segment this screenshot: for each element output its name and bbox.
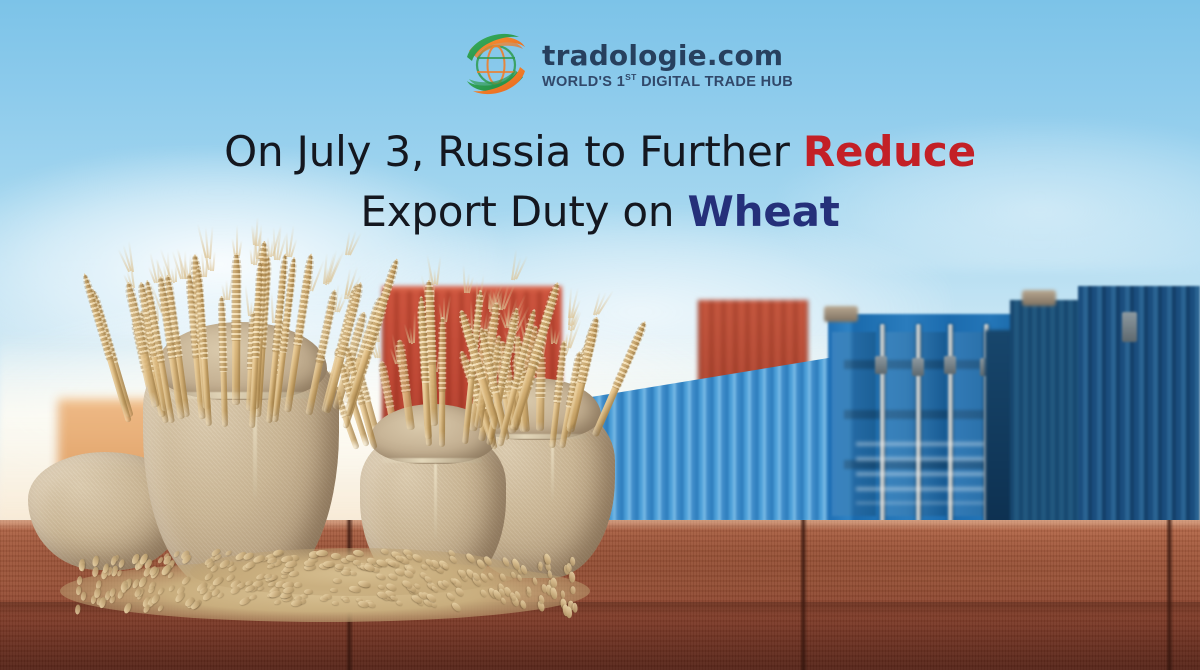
container-door-lock <box>944 356 956 374</box>
wheat-awn <box>245 285 250 316</box>
headline-line1-text: On July 3, Russia to Further <box>224 127 803 176</box>
navy-container-right <box>1078 286 1200 532</box>
container-door-lock <box>875 356 887 374</box>
brand-logo-text: tradologie.com WORLD'S 1ST DIGITAL TRADE… <box>542 39 793 89</box>
sack-string <box>434 464 437 538</box>
headline-line-2: Export Duty on Wheat <box>0 182 1200 242</box>
wheat-ear <box>232 253 241 406</box>
grain-kernel <box>330 588 338 593</box>
headline-line2-text: Export Duty on <box>360 187 687 236</box>
wheat-ear <box>439 317 445 447</box>
grain-kernel <box>304 560 315 567</box>
grain-kernel <box>320 596 328 601</box>
promotional-banner: tradologie.com WORLD'S 1ST DIGITAL TRADE… <box>0 0 1200 670</box>
sack-tie <box>382 458 482 463</box>
tagline-superscript: ST <box>625 72 637 82</box>
grain-kernel <box>323 561 334 567</box>
grain-kernel <box>331 553 342 559</box>
headline-highlight-reduce: Reduce <box>803 127 976 176</box>
grain-kernel <box>572 603 578 613</box>
container-corner-casting <box>824 306 858 322</box>
headline-highlight-wheat: Wheat <box>688 187 840 236</box>
wheat-awn <box>225 280 227 300</box>
wheat-awn <box>212 251 215 271</box>
brand-logo[interactable]: tradologie.com WORLD'S 1ST DIGITAL TRADE… <box>459 27 793 101</box>
headline-line-1: On July 3, Russia to Further Reduce <box>0 122 1200 182</box>
container-door-lock <box>912 358 924 376</box>
globe-swoosh-icon <box>459 27 533 101</box>
wheat-awn <box>271 292 274 323</box>
brand-wordmark: tradologie.com <box>542 42 793 70</box>
sack-string <box>551 440 554 500</box>
wheat-awn <box>445 295 451 322</box>
brand-tagline: WORLD'S 1ST DIGITAL TRADE HUB <box>542 73 793 89</box>
tagline-prefix: WORLD'S 1 <box>542 74 625 90</box>
container-door-lock <box>1122 312 1137 342</box>
tagline-suffix: DIGITAL TRADE HUB <box>637 74 793 90</box>
navy-container-face <box>1010 300 1082 528</box>
headline: On July 3, Russia to Further Reduce Expo… <box>0 122 1200 243</box>
container-id-markings <box>856 442 986 504</box>
wheat-awn <box>555 329 560 344</box>
wheat-awn <box>413 311 415 343</box>
container-corner-casting <box>1022 290 1056 306</box>
